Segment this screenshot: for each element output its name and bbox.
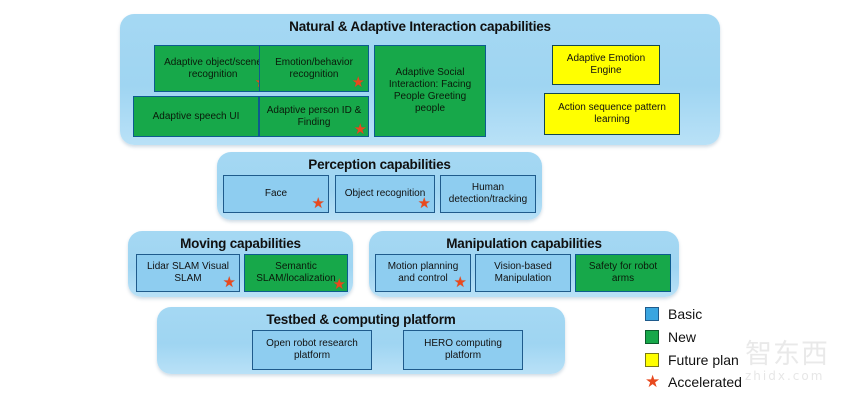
legend-label: Future plan (668, 352, 739, 368)
capability-box-human-detection-tracking[interactable]: Human detection/tracking (440, 175, 536, 213)
capability-label: Safety for robot arms (580, 261, 666, 285)
capability-label: Motion planning and control (380, 261, 466, 285)
capability-label: Adaptive speech UI (138, 111, 254, 123)
legend-item-future-plan: Future plan (645, 349, 739, 370)
capability-label: Human detection/tracking (445, 182, 531, 206)
group-testbed: Testbed & computing platform Open robot … (157, 307, 565, 374)
capability-label: Adaptive object/scene recognition (159, 57, 267, 81)
capability-box-safety-for-robot-arms[interactable]: Safety for robot arms (575, 254, 671, 292)
legend-item-accelerated: ★ Accelerated (645, 371, 742, 392)
capability-label: Semantic SLAM/localization (249, 261, 343, 285)
group-title-perception: Perception capabilities (217, 157, 542, 172)
capability-box-adaptive-speech-ui[interactable]: Adaptive speech UI (133, 96, 259, 137)
capability-box-hero-computing-platform[interactable]: HERO computing platform (403, 330, 523, 370)
capability-label: Adaptive Social Interaction: Facing Peop… (379, 67, 481, 115)
legend-label: New (668, 329, 696, 345)
capability-label: Vision-based Manipulation (480, 261, 566, 285)
capability-box-action-sequence-pattern-learning[interactable]: Action sequence pattern learning (544, 93, 680, 135)
legend: Basic New Future plan ★ Accelerated (645, 303, 845, 395)
capability-label: Emotion/behavior recognition (264, 57, 364, 81)
capability-label: Open robot research platform (257, 338, 367, 362)
capability-box-adaptive-object-scene-recognition[interactable]: Adaptive object/scene recognition ★ (154, 45, 272, 92)
capability-box-face[interactable]: Face ★ (223, 175, 329, 213)
legend-label: Accelerated (668, 374, 742, 390)
capability-label: Lidar SLAM Visual SLAM (141, 261, 235, 285)
group-title-testbed: Testbed & computing platform (157, 312, 565, 327)
group-title-moving: Moving capabilities (128, 236, 353, 251)
capability-label: Object recognition (340, 188, 430, 200)
capability-box-adaptive-social-interaction[interactable]: Adaptive Social Interaction: Facing Peop… (374, 45, 486, 137)
capability-box-object-recognition[interactable]: Object recognition ★ (335, 175, 435, 213)
legend-swatch-basic-icon (645, 307, 659, 321)
legend-swatch-future-plan-icon (645, 353, 659, 367)
capability-label: Face (228, 188, 324, 200)
capability-label: Adaptive person ID & Finding (264, 105, 364, 129)
group-title-manipulation: Manipulation capabilities (369, 236, 679, 251)
capability-box-vision-based-manipulation[interactable]: Vision-based Manipulation (475, 254, 571, 292)
group-manipulation: Manipulation capabilities Motion plannin… (369, 231, 679, 297)
legend-item-basic: Basic (645, 303, 702, 324)
group-moving: Moving capabilities Lidar SLAM Visual SL… (128, 231, 353, 297)
capability-box-semantic-slam-localization[interactable]: Semantic SLAM/localization ★ (244, 254, 348, 292)
capability-box-open-robot-research-platform[interactable]: Open robot research platform (252, 330, 372, 370)
capability-label: Adaptive Emotion Engine (557, 53, 655, 77)
legend-accelerated-star-icon: ★ (645, 375, 659, 389)
capability-box-adaptive-emotion-engine[interactable]: Adaptive Emotion Engine (552, 45, 660, 85)
capability-box-adaptive-person-id-finding[interactable]: Adaptive person ID & Finding ★ (259, 96, 369, 137)
group-title-natural-adaptive-interaction: Natural & Adaptive Interaction capabilit… (120, 19, 720, 34)
legend-label: Basic (668, 306, 702, 322)
capability-box-lidar-visual-slam[interactable]: Lidar SLAM Visual SLAM ★ (136, 254, 240, 292)
capability-box-motion-planning-and-control[interactable]: Motion planning and control ★ (375, 254, 471, 292)
capability-box-emotion-behavior-recognition[interactable]: Emotion/behavior recognition ★ (259, 45, 369, 92)
legend-swatch-new-icon (645, 330, 659, 344)
capability-label: Action sequence pattern learning (549, 102, 675, 126)
legend-item-new: New (645, 326, 696, 347)
group-perception: Perception capabilities Face ★ Object re… (217, 152, 542, 220)
group-natural-adaptive-interaction: Natural & Adaptive Interaction capabilit… (120, 14, 720, 145)
capability-label: HERO computing platform (408, 338, 518, 362)
